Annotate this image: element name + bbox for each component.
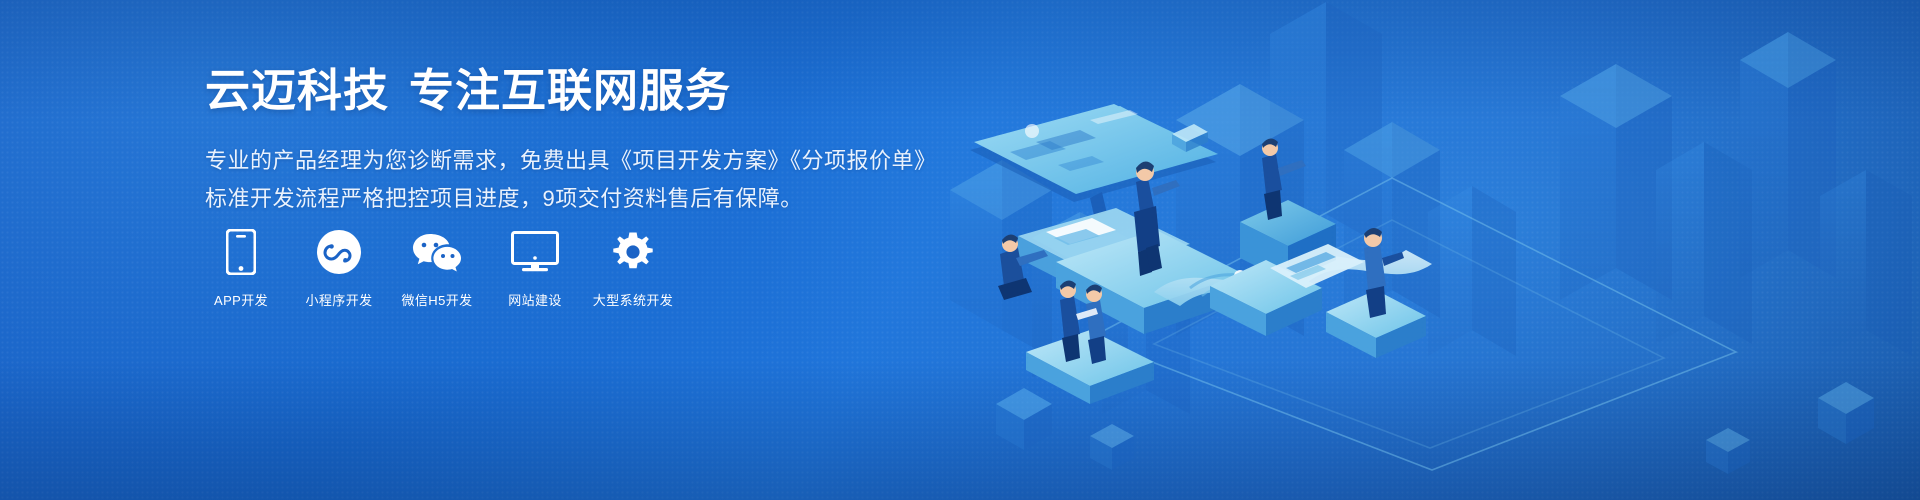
service-label-website: 网站建设 bbox=[508, 290, 562, 309]
service-item-website[interactable]: 网站建设 bbox=[499, 228, 571, 309]
isometric-illustration bbox=[940, 0, 1920, 500]
subtitle-line-1: 专业的产品经理为您诊断需求，免费出具《项目开发方案》《分项报价单》 bbox=[205, 142, 925, 181]
monitor-icon bbox=[511, 228, 559, 276]
service-item-mini-program[interactable]: 小程序开发 bbox=[303, 228, 375, 309]
service-item-large-system[interactable]: 大型系统开发 bbox=[597, 228, 669, 309]
service-label-wechat-h5: 微信H5开发 bbox=[401, 290, 472, 309]
service-item-wechat-h5[interactable]: 微信H5开发 bbox=[401, 228, 473, 309]
service-label-large-system: 大型系统开发 bbox=[593, 290, 673, 309]
headline-brand: 云迈科技 bbox=[205, 65, 389, 116]
hero-banner: 云迈科技专注互联网服务 专业的产品经理为您诊断需求，免费出具《项目开发方案》《分… bbox=[0, 0, 1920, 500]
banner-content: 云迈科技专注互联网服务 专业的产品经理为您诊断需求，免费出具《项目开发方案》《分… bbox=[205, 66, 925, 219]
service-list: APP开发 小程序开发 bbox=[205, 228, 669, 309]
service-item-app[interactable]: APP开发 bbox=[205, 228, 277, 309]
subtitle-line-2: 标准开发流程严格把控项目进度，9项交付资料售后有保障。 bbox=[205, 180, 925, 219]
headline-tagline: 专注互联网服务 bbox=[409, 65, 731, 116]
gear-icon bbox=[610, 228, 656, 276]
service-label-app: APP开发 bbox=[214, 290, 268, 309]
mini-program-icon bbox=[316, 228, 362, 276]
service-label-mini-program: 小程序开发 bbox=[306, 290, 373, 309]
page-title: 云迈科技专注互联网服务 bbox=[205, 66, 925, 116]
wechat-icon bbox=[411, 228, 463, 276]
mobile-phone-icon bbox=[226, 228, 256, 276]
subtitle: 专业的产品经理为您诊断需求，免费出具《项目开发方案》《分项报价单》 标准开发流程… bbox=[205, 142, 925, 219]
